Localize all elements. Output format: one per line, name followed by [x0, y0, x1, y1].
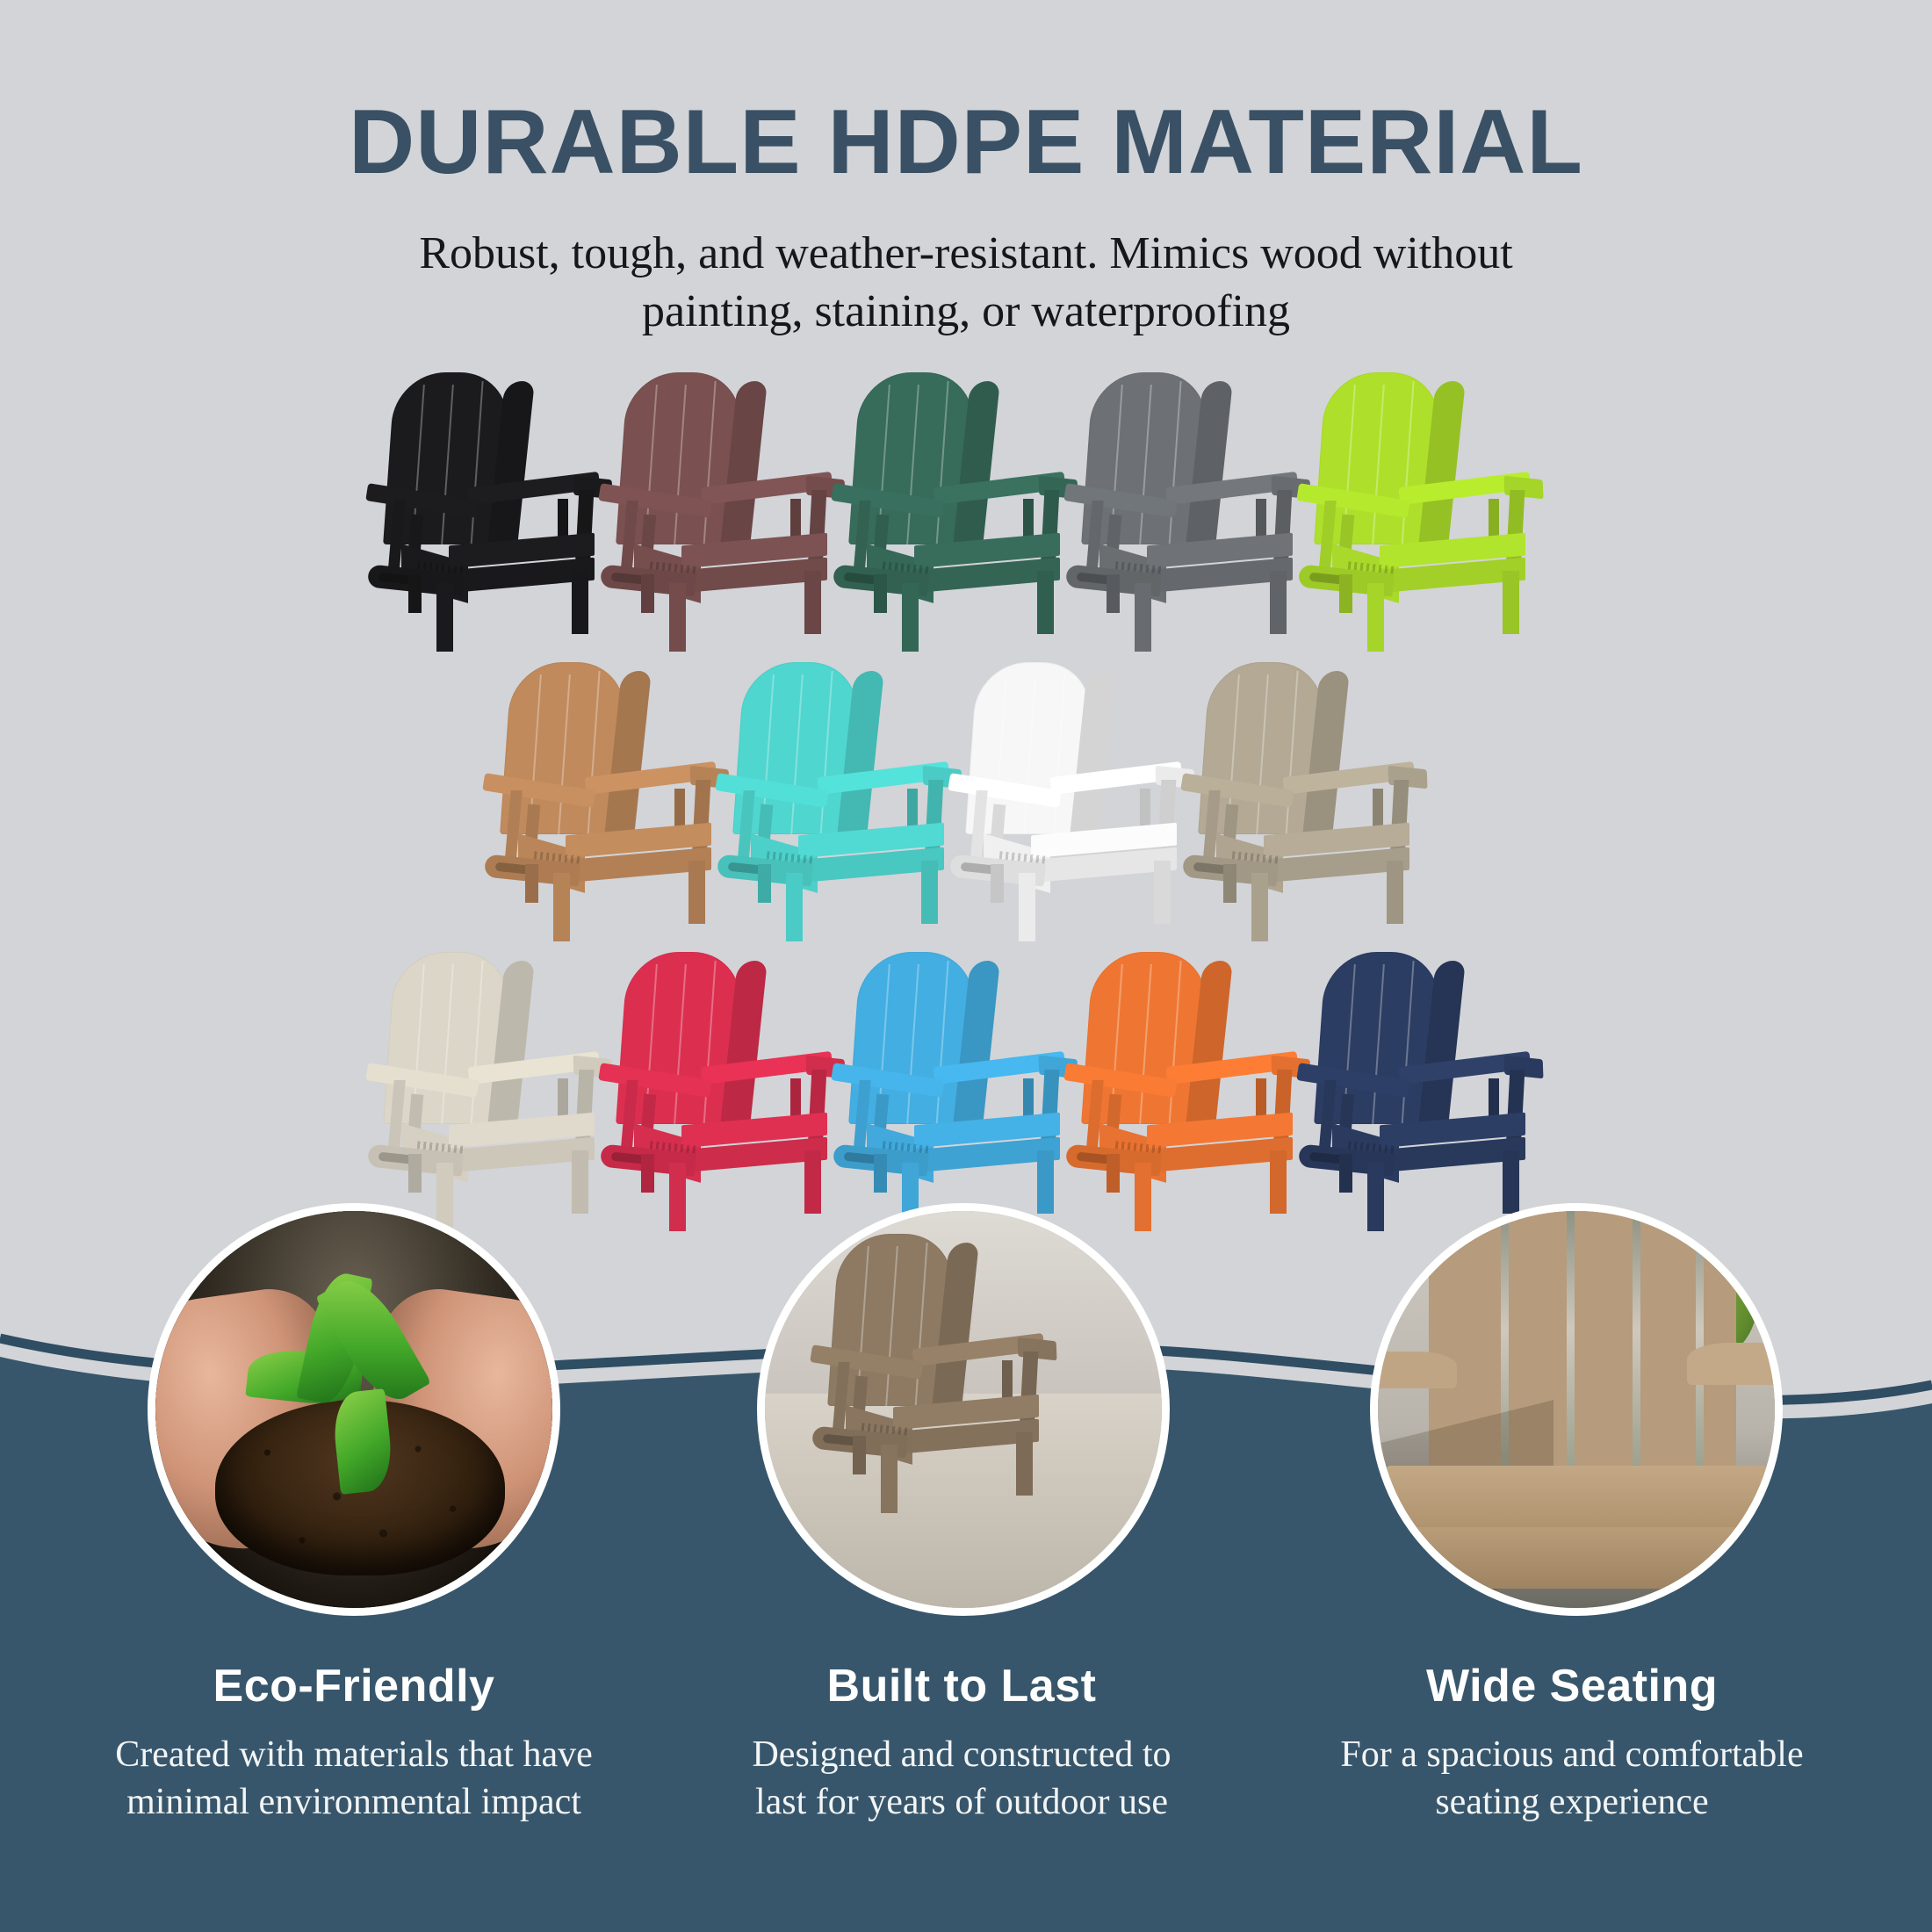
chair-seat-closeup — [1387, 1466, 1782, 1527]
chair-leg — [1019, 873, 1035, 941]
chair-leg — [902, 583, 919, 652]
chair-leg — [853, 1436, 866, 1474]
chair-leg — [1135, 583, 1151, 652]
feature-photo-eco-friendly — [148, 1203, 560, 1616]
chair-swatch-navy[interactable] — [1287, 947, 1576, 1236]
chair-leg — [1016, 1432, 1033, 1496]
chair-leg — [874, 1154, 887, 1193]
chair-leg — [688, 861, 705, 924]
chair-leg — [641, 574, 654, 613]
subtitle-line-1: Robust, tough, and weather-resistant. Mi… — [0, 225, 1932, 283]
chair-leg — [786, 873, 803, 941]
chair-back-slat-gap — [1633, 1203, 1640, 1474]
chair-leg — [408, 574, 422, 613]
chair-leg — [1107, 1154, 1120, 1193]
header: DURABLE HDPE MATERIAL Robust, tough, and… — [0, 0, 1932, 340]
chair-seat-front-board — [1387, 1527, 1782, 1589]
eco-photo-scene — [155, 1211, 552, 1608]
chair-swatch-taupe[interactable] — [1171, 657, 1460, 947]
chair-leg — [408, 1154, 422, 1193]
chair-leg — [1251, 873, 1268, 941]
patio-adirondack-chair — [800, 1229, 1134, 1580]
chair-leg — [921, 861, 938, 924]
patio-photo-scene — [765, 1211, 1162, 1608]
feature-caption-eco-friendly: Eco-Friendly Created with materials that… — [73, 1660, 635, 1827]
chair-leg — [804, 571, 821, 634]
chair-leg — [804, 1150, 821, 1214]
chair-leg — [1367, 583, 1384, 652]
feature-description: For a spacious and comfortable seating e… — [1291, 1732, 1853, 1827]
feature-photo-built-to-last — [757, 1203, 1170, 1616]
chair-leg — [1154, 861, 1171, 924]
chair-row — [0, 947, 1932, 1236]
feature-desc-line-1: For a spacious and comfortable — [1291, 1732, 1853, 1779]
page-title: DURABLE HDPE MATERIAL — [0, 97, 1932, 188]
chair-leg — [1339, 574, 1352, 613]
chair-leg — [1387, 861, 1403, 924]
feature-description: Created with materials that have minimal… — [73, 1732, 635, 1827]
chair-leg — [991, 864, 1004, 903]
chair-leg — [1037, 571, 1054, 634]
chair-armrest-right-closeup — [1687, 1343, 1783, 1385]
chair-leg — [1107, 574, 1120, 613]
feature-desc-line-2: minimal environmental impact — [73, 1779, 635, 1827]
chair-leg — [669, 1163, 686, 1231]
wide-seating-photo-scene — [1378, 1211, 1775, 1608]
chair-leg — [758, 864, 771, 903]
feature-caption-wide-seating: Wide Seating For a spacious and comforta… — [1291, 1660, 1853, 1827]
chair-leg — [881, 1445, 898, 1513]
chair-back-slat-gap — [1567, 1203, 1575, 1474]
page-subtitle: Robust, tough, and weather-resistant. Mi… — [0, 225, 1932, 340]
chair-leg — [572, 1150, 588, 1214]
chair-leg — [1503, 571, 1519, 634]
adirondack-chair — [1287, 947, 1576, 1236]
adirondack-chair — [1171, 657, 1460, 947]
feature-photo-wide-seating — [1370, 1203, 1783, 1616]
chair-leg — [525, 864, 538, 903]
feature-desc-line-1: Designed and constructed to — [681, 1732, 1243, 1779]
chair-leg — [669, 583, 686, 652]
chair-color-grid — [0, 367, 1932, 1236]
subtitle-line-2: painting, staining, or waterproofing — [0, 283, 1932, 341]
feature-caption-built-to-last: Built to Last Designed and constructed t… — [681, 1660, 1243, 1827]
chair-armrest-left-closeup — [1370, 1352, 1457, 1388]
chair-leg — [553, 873, 570, 941]
chair-leg — [1037, 1150, 1054, 1214]
chair-row — [0, 657, 1932, 947]
chair-leg — [1503, 1150, 1519, 1214]
chair-leg — [1223, 864, 1236, 903]
chair-leg — [572, 571, 588, 634]
chair-leg — [874, 574, 887, 613]
chair-row — [0, 367, 1932, 657]
feature-desc-line-2: seating experience — [1291, 1779, 1853, 1827]
feature-desc-line-1: Created with materials that have — [73, 1732, 635, 1779]
feature-title: Wide Seating — [1291, 1660, 1853, 1712]
feature-title: Eco-Friendly — [73, 1660, 635, 1712]
feature-title: Built to Last — [681, 1660, 1243, 1712]
chair-leg — [1270, 1150, 1287, 1214]
chair-leg — [641, 1154, 654, 1193]
chair-leg — [1270, 571, 1287, 634]
chair-swatch-lime-green[interactable] — [1287, 367, 1576, 657]
chair-leg — [1339, 1154, 1352, 1193]
chair-back-slat-gap — [1696, 1203, 1704, 1474]
feature-desc-line-2: last for years of outdoor use — [681, 1779, 1243, 1827]
adirondack-chair — [1287, 367, 1576, 657]
chair-leg — [436, 583, 453, 652]
feature-description: Designed and constructed to last for yea… — [681, 1732, 1243, 1827]
